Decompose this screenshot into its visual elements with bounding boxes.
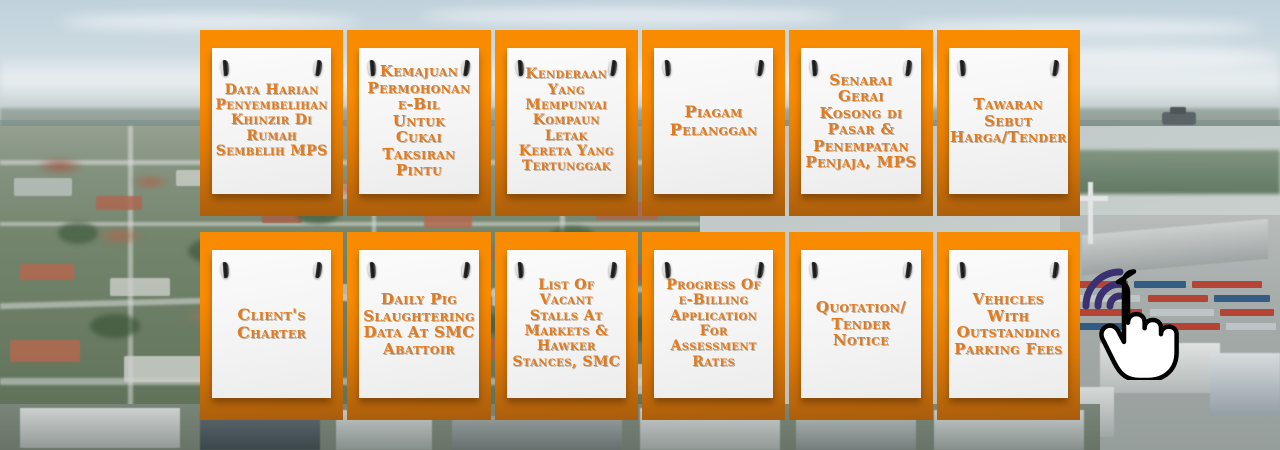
tile-label: Senarai Gerai Kosong di Pasar & Penempat…	[805, 72, 916, 171]
binder-clip-icon	[515, 262, 525, 279]
tile-paper: Progress Of e-Billing Application For As…	[654, 250, 773, 398]
binder-clip-icon	[957, 60, 967, 77]
binder-clip-icon	[957, 262, 967, 279]
tile-paper: Client's Charter	[212, 250, 331, 398]
tile-list-of-vacant-stalls[interactable]: List Of Vacant Stalls At Markets & Hawke…	[495, 232, 638, 420]
tile-label: Data Harian Penyembelihan Khinzir Di Rum…	[215, 83, 327, 160]
binder-clip-icon	[314, 60, 324, 77]
tile-clients-charter[interactable]: Client's Charter	[200, 232, 343, 420]
tile-vehicles-with-outstanding-parking-fees[interactable]: Vehicles With Outstanding Parking Fees	[937, 232, 1080, 420]
tile-paper: Quotation/ Tender Notice	[801, 250, 920, 398]
tile-paper: List Of Vacant Stalls At Markets & Hawke…	[507, 250, 626, 398]
binder-clip-icon	[368, 262, 378, 279]
tile-progress-of-e-billing-application[interactable]: Progress Of e-Billing Application For As…	[642, 232, 785, 420]
tile-paper: Kemajuan Permohonan e-Bil Untuk Cukai Ta…	[359, 48, 478, 194]
tile-quotation-tender-notice[interactable]: Quotation/ Tender Notice	[789, 232, 932, 420]
binder-clip-icon	[662, 262, 672, 279]
binder-clip-icon	[756, 60, 766, 77]
binder-clip-icon	[1050, 60, 1060, 77]
tile-label: Progress Of e-Billing Application For As…	[666, 278, 761, 370]
tile-label: Kenderaan Yang Mempunyai Kompaun Letak K…	[511, 67, 622, 175]
tile-label: Vehicles With Outstanding Parking Fees	[953, 291, 1064, 357]
tile-paper: Piagam Pelanggan	[654, 48, 773, 194]
binder-clip-icon	[461, 262, 471, 279]
binder-clip-icon	[608, 262, 618, 279]
tile-label: Quotation/ Tender Notice	[805, 299, 916, 349]
tile-label: Daily Pig Slaughtering Data At SMC Abatt…	[363, 291, 475, 357]
tile-data-harian-penyembelihan[interactable]: Data Harian Penyembelihan Khinzir Di Rum…	[200, 30, 343, 216]
tile-piagam-pelanggan[interactable]: Piagam Pelanggan	[642, 30, 785, 216]
binder-clip-icon	[1050, 262, 1060, 279]
tile-kemajuan-permohonan-e-bil[interactable]: Kemajuan Permohonan e-Bil Untuk Cukai Ta…	[347, 30, 490, 216]
boat	[1162, 112, 1196, 125]
cloud	[60, 14, 360, 30]
tile-label: List Of Vacant Stalls At Markets & Hawke…	[511, 278, 622, 370]
tile-senarai-gerai-kosong[interactable]: Senarai Gerai Kosong di Pasar & Penempat…	[789, 30, 932, 216]
port-crane	[1088, 182, 1093, 244]
binder-clip-icon	[220, 60, 230, 77]
tile-paper: Senarai Gerai Kosong di Pasar & Penempat…	[801, 48, 920, 194]
binder-clip-icon	[314, 262, 324, 279]
tile-tawaran-sebut-harga-tender[interactable]: Tawaran Sebut Harga/Tender	[937, 30, 1080, 216]
cloud	[420, 8, 840, 24]
tile-label: Client's Charter	[237, 306, 306, 341]
tile-label: Piagam Pelanggan	[670, 103, 758, 138]
tile-paper: Tawaran Sebut Harga/Tender	[949, 48, 1068, 194]
tile-paper: Vehicles With Outstanding Parking Fees	[949, 250, 1068, 398]
tile-paper: Kenderaan Yang Mempunyai Kompaun Letak K…	[507, 48, 626, 194]
service-tile-grid: Data Harian Penyembelihan Khinzir Di Rum…	[200, 30, 1080, 420]
binder-clip-icon	[662, 60, 672, 77]
tile-paper: Daily Pig Slaughtering Data At SMC Abatt…	[359, 250, 478, 398]
tile-paper: Data Harian Penyembelihan Khinzir Di Rum…	[212, 48, 331, 194]
tile-label: Kemajuan Permohonan e-Bil Untuk Cukai Ta…	[367, 63, 470, 179]
tile-kenderaan-kompaun-letak-kereta[interactable]: Kenderaan Yang Mempunyai Kompaun Letak K…	[495, 30, 638, 216]
tile-daily-pig-slaughtering-data[interactable]: Daily Pig Slaughtering Data At SMC Abatt…	[347, 232, 490, 420]
binder-clip-icon	[810, 262, 820, 279]
binder-clip-icon	[756, 262, 766, 279]
tile-label: Tawaran Sebut Harga/Tender	[950, 96, 1067, 146]
binder-clip-icon	[220, 262, 230, 279]
binder-clip-icon	[903, 262, 913, 279]
